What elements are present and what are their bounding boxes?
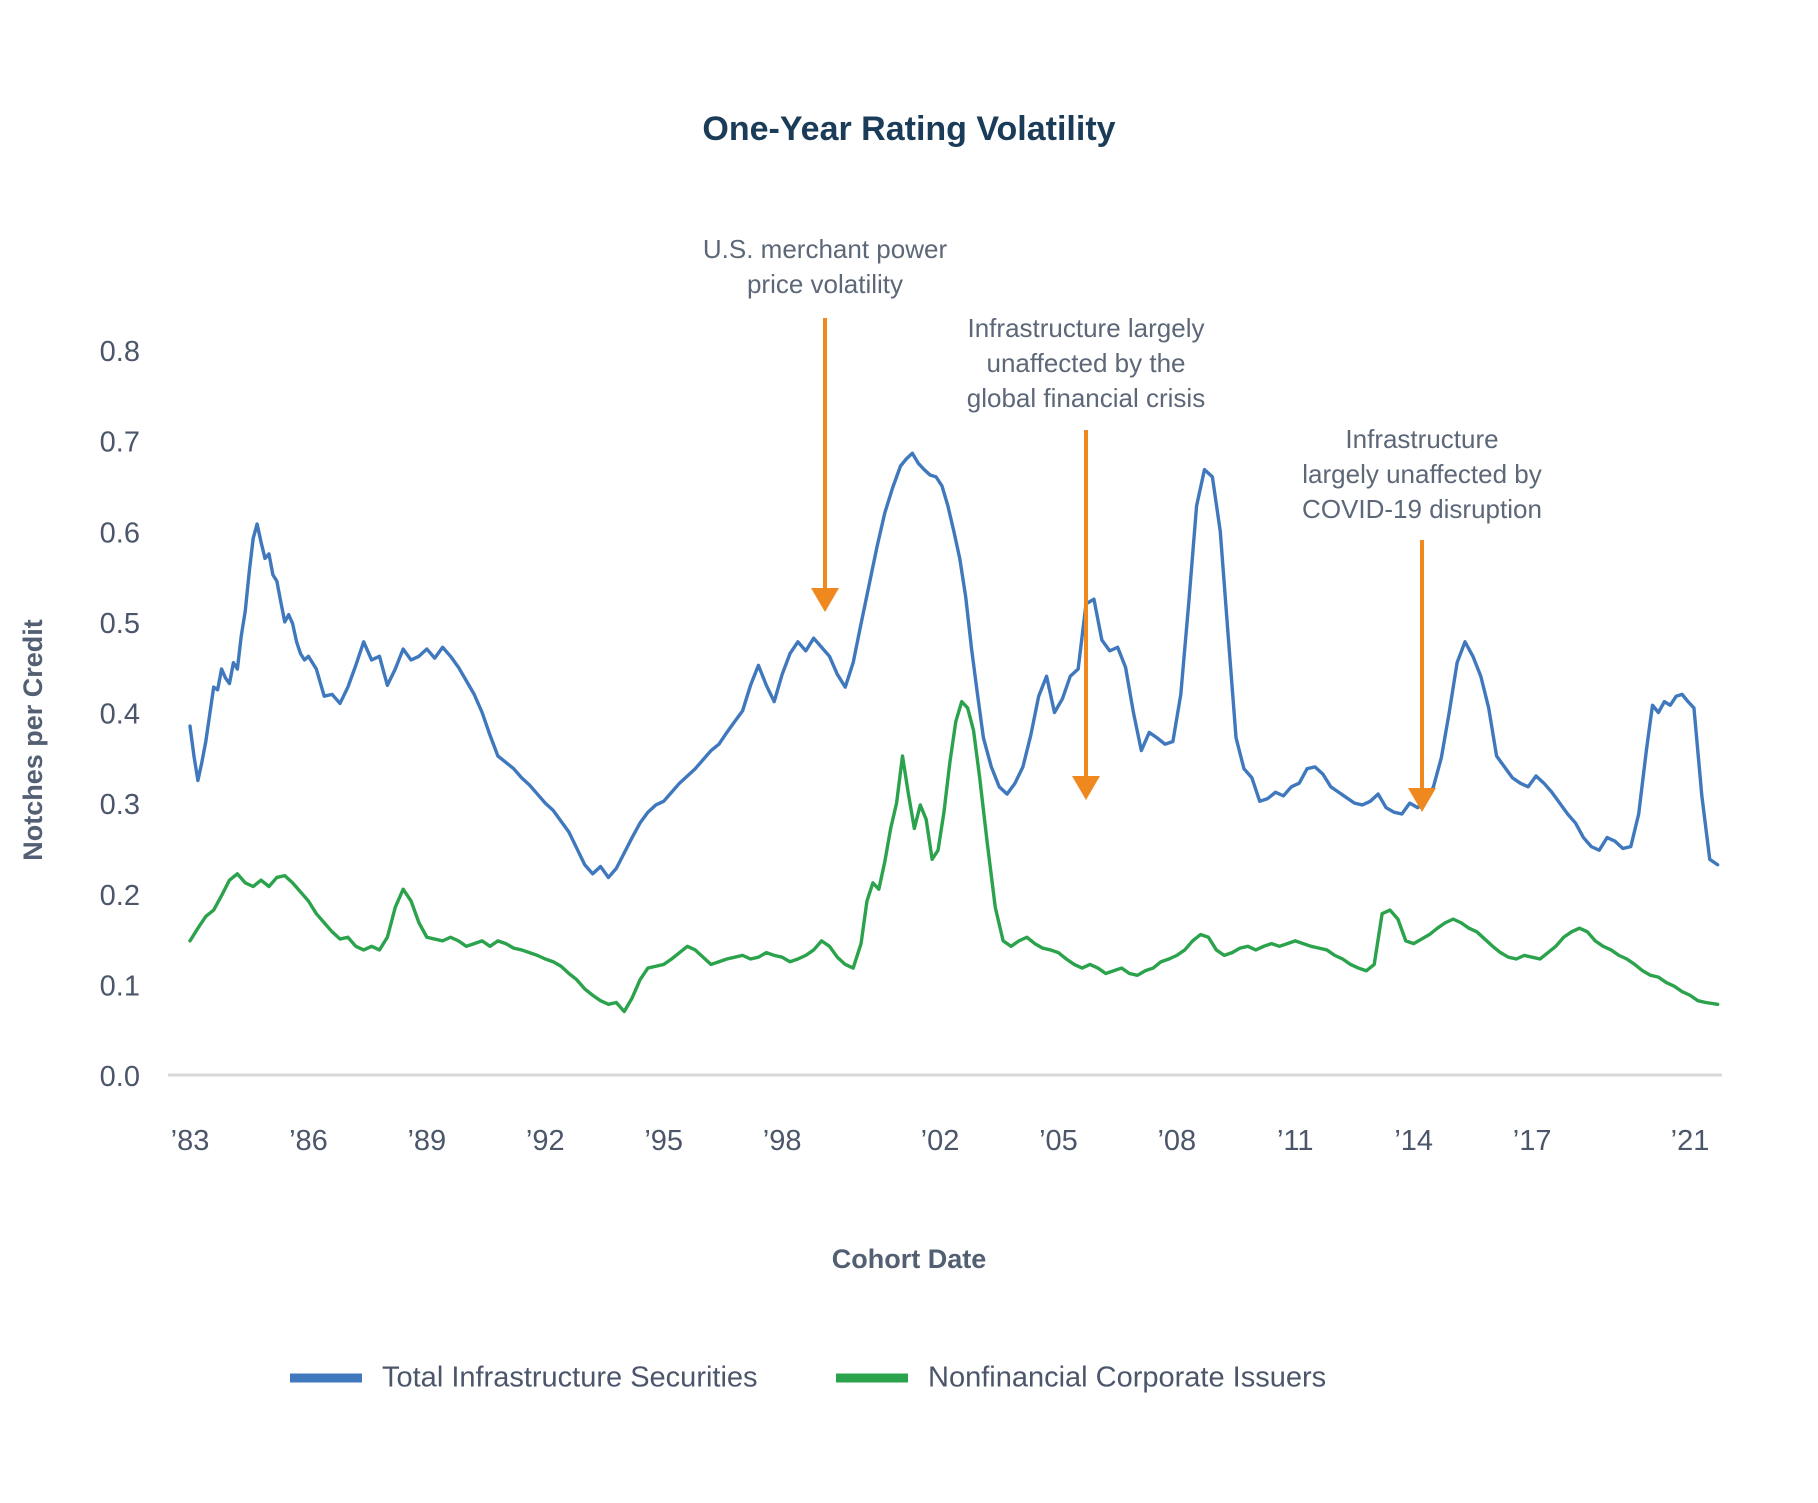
- y-axis: 0.00.10.20.30.40.50.60.70.8: [100, 336, 140, 1093]
- y-axis-tick-label: 0.3: [100, 789, 140, 821]
- legend-label: Total Infrastructure Securities: [382, 1362, 758, 1394]
- x-axis-tick-label: ’83: [171, 1125, 210, 1157]
- x-axis-tick-label: ’11: [1277, 1125, 1314, 1157]
- y-axis-tick-label: 0.2: [100, 880, 140, 912]
- annotation-text-line: unaffected by the: [986, 348, 1185, 378]
- rating-volatility-chart: One-Year Rating Volatility 0.00.10.20.30…: [0, 0, 1818, 1503]
- x-axis-tick-label: ’86: [289, 1125, 328, 1157]
- x-axis-tick-label: ’98: [763, 1125, 802, 1157]
- x-axis-tick-label: ’05: [1039, 1125, 1078, 1157]
- y-axis-tick-label: 0.4: [100, 699, 140, 731]
- x-axis-tick-label: ’89: [407, 1125, 446, 1157]
- legend-label: Nonfinancial Corporate Issuers: [928, 1362, 1326, 1394]
- y-axis-tick-label: 0.0: [100, 1061, 140, 1093]
- chart-title: One-Year Rating Volatility: [702, 110, 1115, 148]
- y-axis-tick-label: 0.7: [100, 427, 140, 459]
- x-axis-tick-label: ’02: [921, 1125, 960, 1157]
- x-axis-tick-label: ’21: [1671, 1125, 1710, 1157]
- y-axis-tick-label: 0.1: [100, 970, 140, 1002]
- annotation-text-line: Infrastructure: [1345, 424, 1498, 454]
- x-axis-tick-label: ’95: [644, 1125, 683, 1157]
- chart-container: One-Year Rating Volatility 0.00.10.20.30…: [0, 0, 1818, 1503]
- annotation-text-line: U.S. merchant power: [703, 234, 948, 264]
- x-axis-tick-label: ’92: [526, 1125, 565, 1157]
- y-axis-tick-label: 0.6: [100, 517, 140, 549]
- annotation-text-line: COVID-19 disruption: [1302, 494, 1542, 524]
- x-axis-title: Cohort Date: [832, 1244, 987, 1274]
- annotation-text-line: Infrastructure largely: [968, 313, 1205, 343]
- y-axis-tick-label: 0.8: [100, 336, 140, 368]
- annotation-text-line: largely unaffected by: [1302, 459, 1541, 489]
- annotation-text-line: global financial crisis: [967, 383, 1205, 413]
- x-axis-tick-label: ’17: [1513, 1125, 1552, 1157]
- x-axis-tick-label: ’08: [1157, 1125, 1196, 1157]
- x-axis-tick-label: ’14: [1394, 1125, 1433, 1157]
- y-axis-tick-label: 0.5: [100, 608, 140, 640]
- chart-background: [0, 0, 1818, 1503]
- annotation-text-line: price volatility: [747, 269, 903, 299]
- y-axis-title: Notches per Credit: [18, 619, 48, 861]
